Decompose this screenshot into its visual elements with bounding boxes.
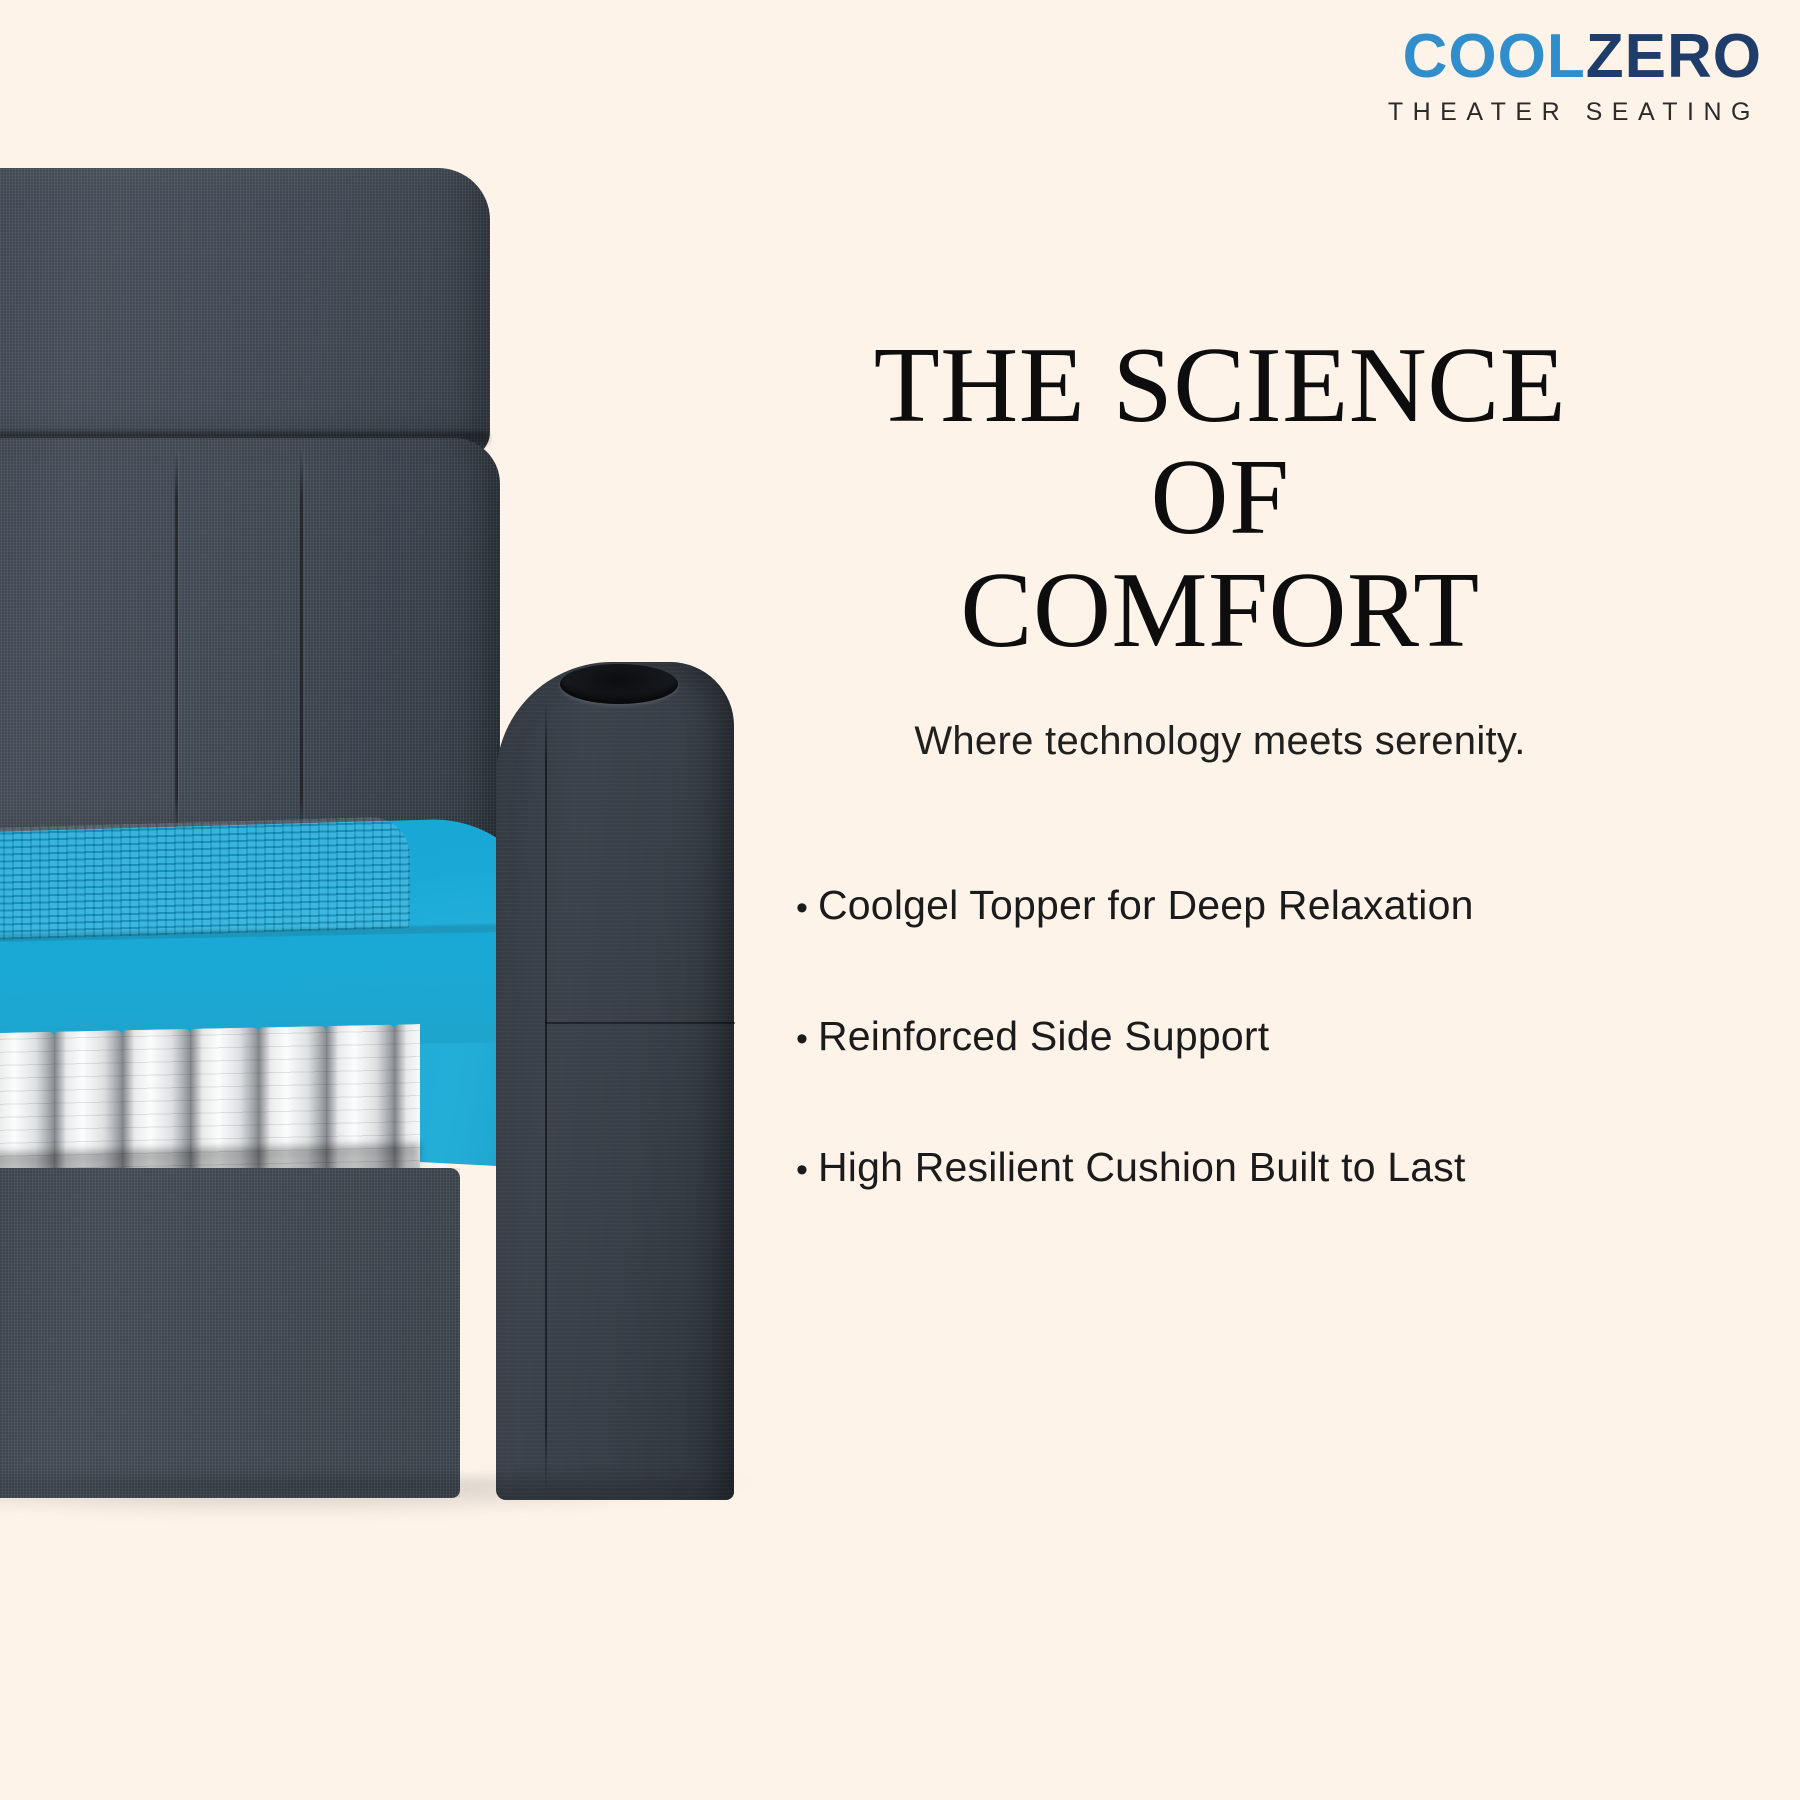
feature-label: High Resilient Cushion Built to Last [818,1144,1466,1191]
back-cushion [0,168,490,458]
content-panel: THE SCIENCE OF COMFORT Where technology … [720,330,1720,1191]
stitch-seam-left [175,452,178,842]
bullet-dot-icon: • [796,1022,818,1056]
logo-tagline: THEATER SEATING [1388,100,1762,125]
feature-item: • High Resilient Cushion Built to Last [796,1144,1720,1191]
page-title: THE SCIENCE OF COMFORT [820,330,1620,667]
armrest-vertical-seam [545,700,547,1490]
feature-label: Coolgel Topper for Deep Relaxation [818,882,1474,929]
bullet-dot-icon: • [796,891,818,925]
headline-line-2: COMFORT [820,555,1620,667]
coolgel-grid-texture [0,816,410,944]
floor-shadow [0,1478,770,1518]
logo-wordmark: COOLZERO [1388,26,1762,88]
armrest-horizontal-seam [545,1022,735,1024]
logo-word-zero: ZERO [1586,22,1762,91]
promo-canvas: COOLZERO THEATER SEATING THE SCIENCE OF … [0,0,1800,1800]
seat-base [0,1168,460,1498]
headline-line-1: THE SCIENCE OF [820,330,1620,555]
lumbar-cushion [0,438,500,858]
feature-label: Reinforced Side Support [818,1013,1269,1060]
armrest [496,662,734,1500]
feature-item: • Reinforced Side Support [796,1013,1720,1060]
bullet-dot-icon: • [796,1153,818,1187]
feature-item: • Coolgel Topper for Deep Relaxation [796,882,1720,929]
stitch-seam-right [300,450,303,842]
feature-list: • Coolgel Topper for Deep Relaxation • R… [720,882,1720,1191]
brand-logo[interactable]: COOLZERO THEATER SEATING [1388,26,1762,125]
logo-word-cool: COOL [1403,22,1586,91]
cup-holder [560,664,678,704]
subtitle: Where technology meets serenity. [810,719,1630,764]
product-photo [0,0,790,1800]
